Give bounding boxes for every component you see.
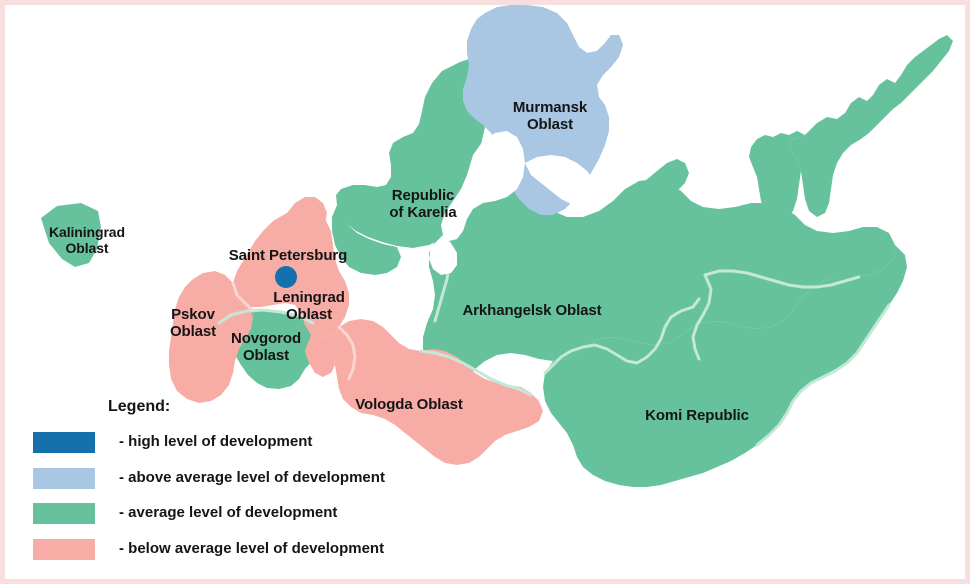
legend-row-high[interactable]: - high level of development — [33, 432, 423, 458]
legend-label-average: - average level of development — [119, 504, 337, 521]
legend-label-below-average: - below average level of development — [119, 540, 384, 557]
map-canvas — [5, 5, 970, 584]
legend-row-average[interactable]: - average level of development — [33, 503, 423, 529]
region-shape-kaliningrad[interactable] — [41, 203, 101, 267]
legend-title: Legend: — [108, 398, 170, 416]
legend-swatch-above-average — [33, 468, 95, 489]
legend-label-high: - high level of development — [119, 433, 312, 450]
legend-label-above-average: - above average level of development — [119, 469, 385, 486]
legend-swatch-high — [33, 432, 95, 453]
development-level-map: Kaliningrad Oblast Murmansk Oblast Repub… — [0, 0, 970, 584]
legend-swatch-average — [33, 503, 95, 524]
legend-row-above-average[interactable]: - above average level of development — [33, 468, 423, 494]
legend-swatch-below-average — [33, 539, 95, 560]
city-marker-saint-petersburg[interactable] — [275, 266, 297, 288]
region-shape-novaya-zemlya-south[interactable] — [789, 35, 953, 217]
legend-row-below-average[interactable]: - below average level of development — [33, 539, 423, 565]
